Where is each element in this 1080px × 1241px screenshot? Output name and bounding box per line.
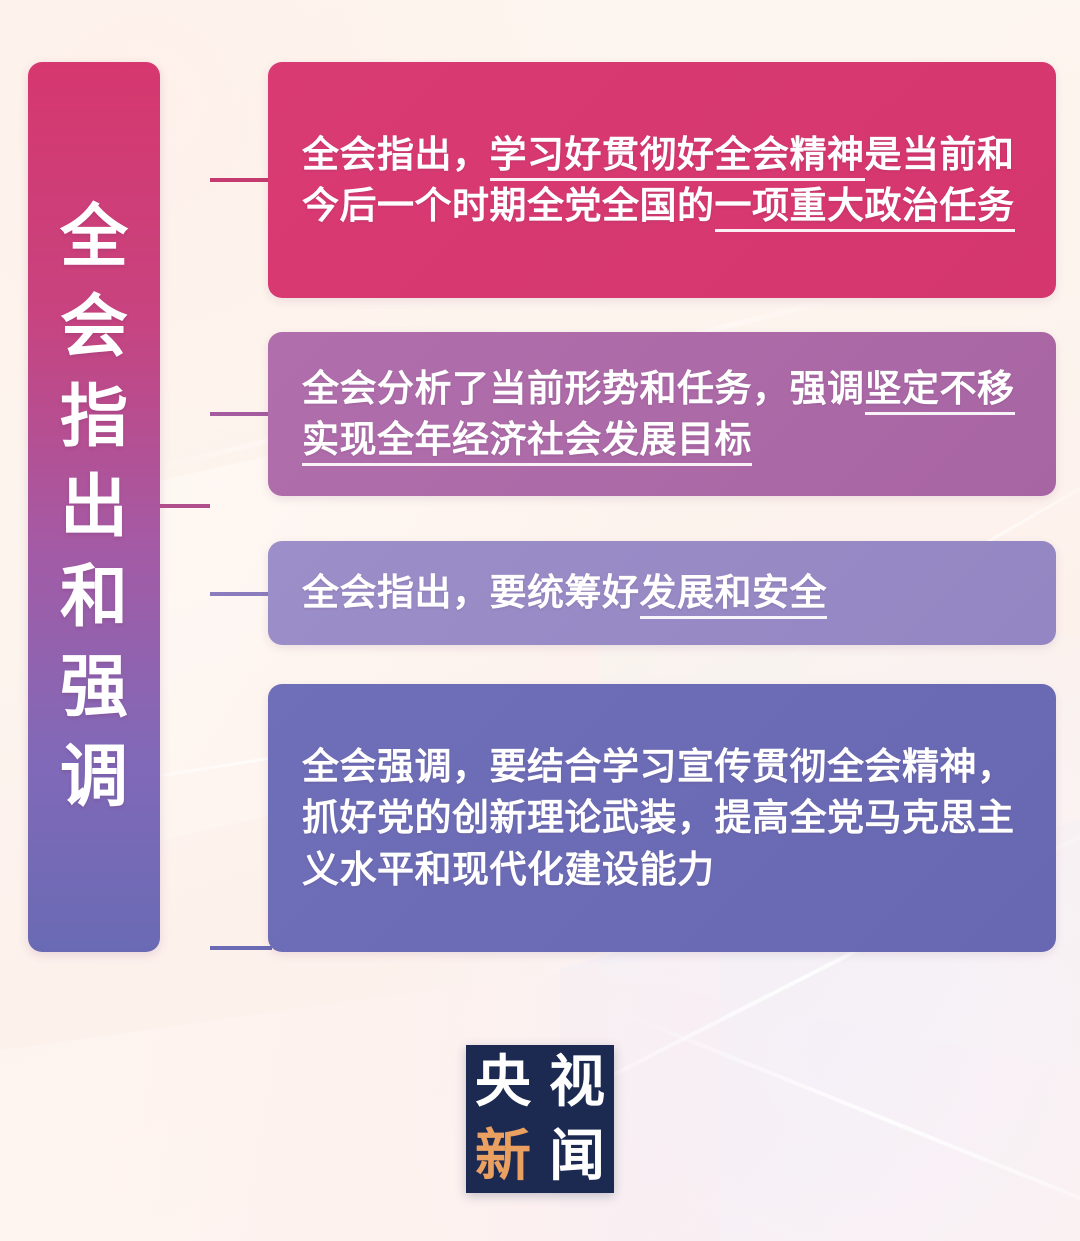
- plain-text: 全会指出，: [302, 134, 490, 175]
- banner-char: 会: [60, 293, 128, 361]
- banner-char: 指: [60, 383, 128, 451]
- content-card-4: 全会强调，要结合学习宣传贯彻全会精神，抓好党的创新理论武装，提高全党马克思主义水…: [268, 684, 1056, 952]
- logo-char-shi: 视: [549, 1054, 605, 1110]
- emphasis-text: 一项重大政治任务: [715, 185, 1015, 232]
- card-3-text: 全会指出，要统筹好发展和安全: [302, 567, 827, 618]
- banner-char: 全: [60, 203, 128, 271]
- infographic-poster: 全 会 指 出 和 强 调 全会指出，学习好贯彻好全会精神是当前: [0, 0, 1080, 1241]
- vertical-title-banner: 全 会 指 出 和 强 调: [28, 62, 160, 952]
- card-2-text: 全会分析了当前形势和任务，强调坚定不移实现全年经济社会发展目标: [302, 363, 1026, 465]
- emphasis-text: 发展和安全: [640, 572, 828, 619]
- plain-text: 全会强调，要结合学习宣传贯彻全会精神，抓好党的创新理论武装，提高全党马克思主义水…: [302, 746, 1015, 889]
- card-4-text: 全会强调，要结合学习宣传贯彻全会精神，抓好党的创新理论武装，提高全党马克思主义水…: [302, 741, 1026, 894]
- cctv-news-logo: 央 视 新 闻: [466, 1045, 614, 1193]
- bracket-connector: [160, 60, 272, 960]
- logo-char-wen: 闻: [549, 1128, 605, 1184]
- banner-char: 出: [60, 473, 128, 541]
- plain-text: 全会指出，要统筹好: [302, 572, 640, 613]
- banner-char: 和: [60, 563, 128, 631]
- card-1-text: 全会指出，学习好贯彻好全会精神是当前和今后一个时期全党全国的一项重大政治任务: [302, 129, 1026, 231]
- content-card-3: 全会指出，要统筹好发展和安全: [268, 541, 1056, 645]
- content-card-1: 全会指出，学习好贯彻好全会精神是当前和今后一个时期全党全国的一项重大政治任务: [268, 62, 1056, 298]
- banner-char: 调: [60, 743, 128, 811]
- logo-char-yang: 央: [475, 1054, 531, 1110]
- logo-char-xin: 新: [475, 1128, 531, 1184]
- content-card-2: 全会分析了当前形势和任务，强调坚定不移实现全年经济社会发展目标: [268, 332, 1056, 496]
- background-streak-3: [619, 1010, 1080, 1241]
- emphasis-text: 学习好贯彻好全会精神: [490, 134, 865, 181]
- banner-char: 强: [60, 653, 128, 721]
- plain-text: 全会分析了当前形势和任务，强调: [302, 368, 865, 409]
